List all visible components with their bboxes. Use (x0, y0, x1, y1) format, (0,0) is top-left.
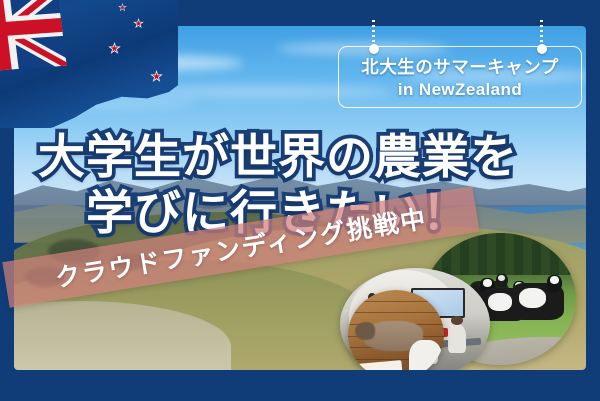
badge-line-2: in NewZealand (398, 80, 522, 100)
flag-body (0, 0, 178, 128)
new-zealand-flag-icon (0, 0, 178, 128)
bottom-band (0, 370, 600, 401)
program-badge: 北大生のサマーキャンプ in NewZealand (338, 46, 582, 108)
union-jack-canton (0, 0, 67, 74)
student (448, 324, 466, 353)
cow (512, 283, 564, 320)
inset-barn-animal (348, 290, 444, 380)
campaign-banner: 北大生のサマーキャンプ in NewZealand 大学生が世界の農業を 学びに… (0, 0, 600, 401)
badge-line-1: 北大生のサマーキャンプ (361, 54, 558, 79)
